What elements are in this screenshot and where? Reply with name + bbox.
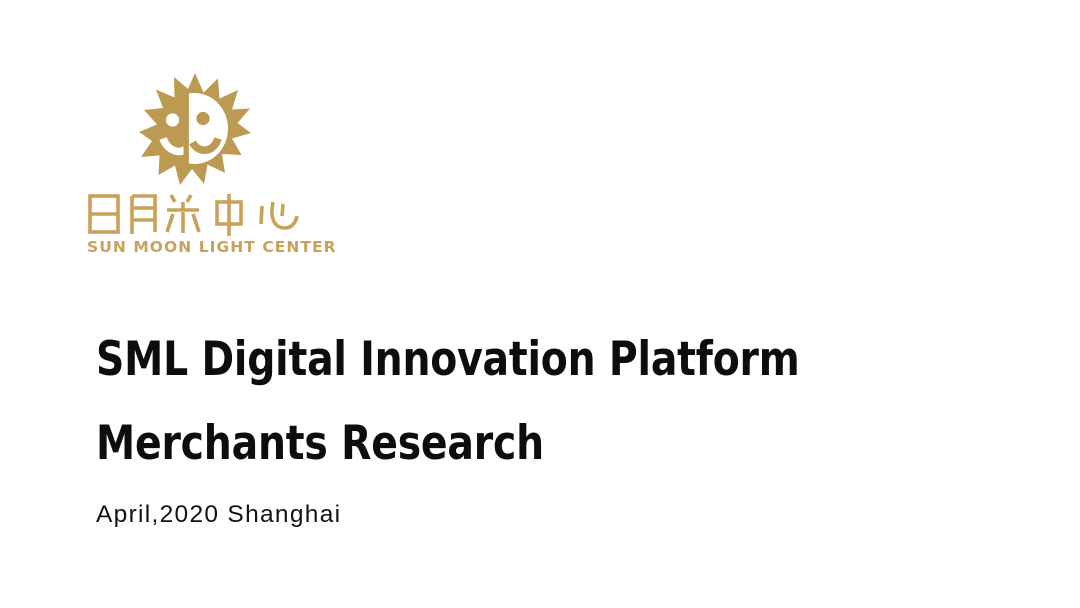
company-logo: SUN MOON LIGHT CENTER (87, 72, 387, 256)
sun-face-logo-icon (139, 72, 251, 186)
logo-chinese-wordmark (87, 192, 302, 238)
title-slide: SUN MOON LIGHT CENTER SML Digital Innova… (0, 0, 1080, 608)
title-block: SML Digital Innovation Platform Merchant… (96, 318, 996, 529)
title-line-2: Merchants Research (96, 402, 933, 486)
title-line-1: SML Digital Innovation Platform (96, 318, 933, 402)
subtitle-date-location: April,2020 Shanghai (96, 502, 996, 529)
logo-tagline: SUN MOON LIGHT CENTER (87, 240, 387, 256)
